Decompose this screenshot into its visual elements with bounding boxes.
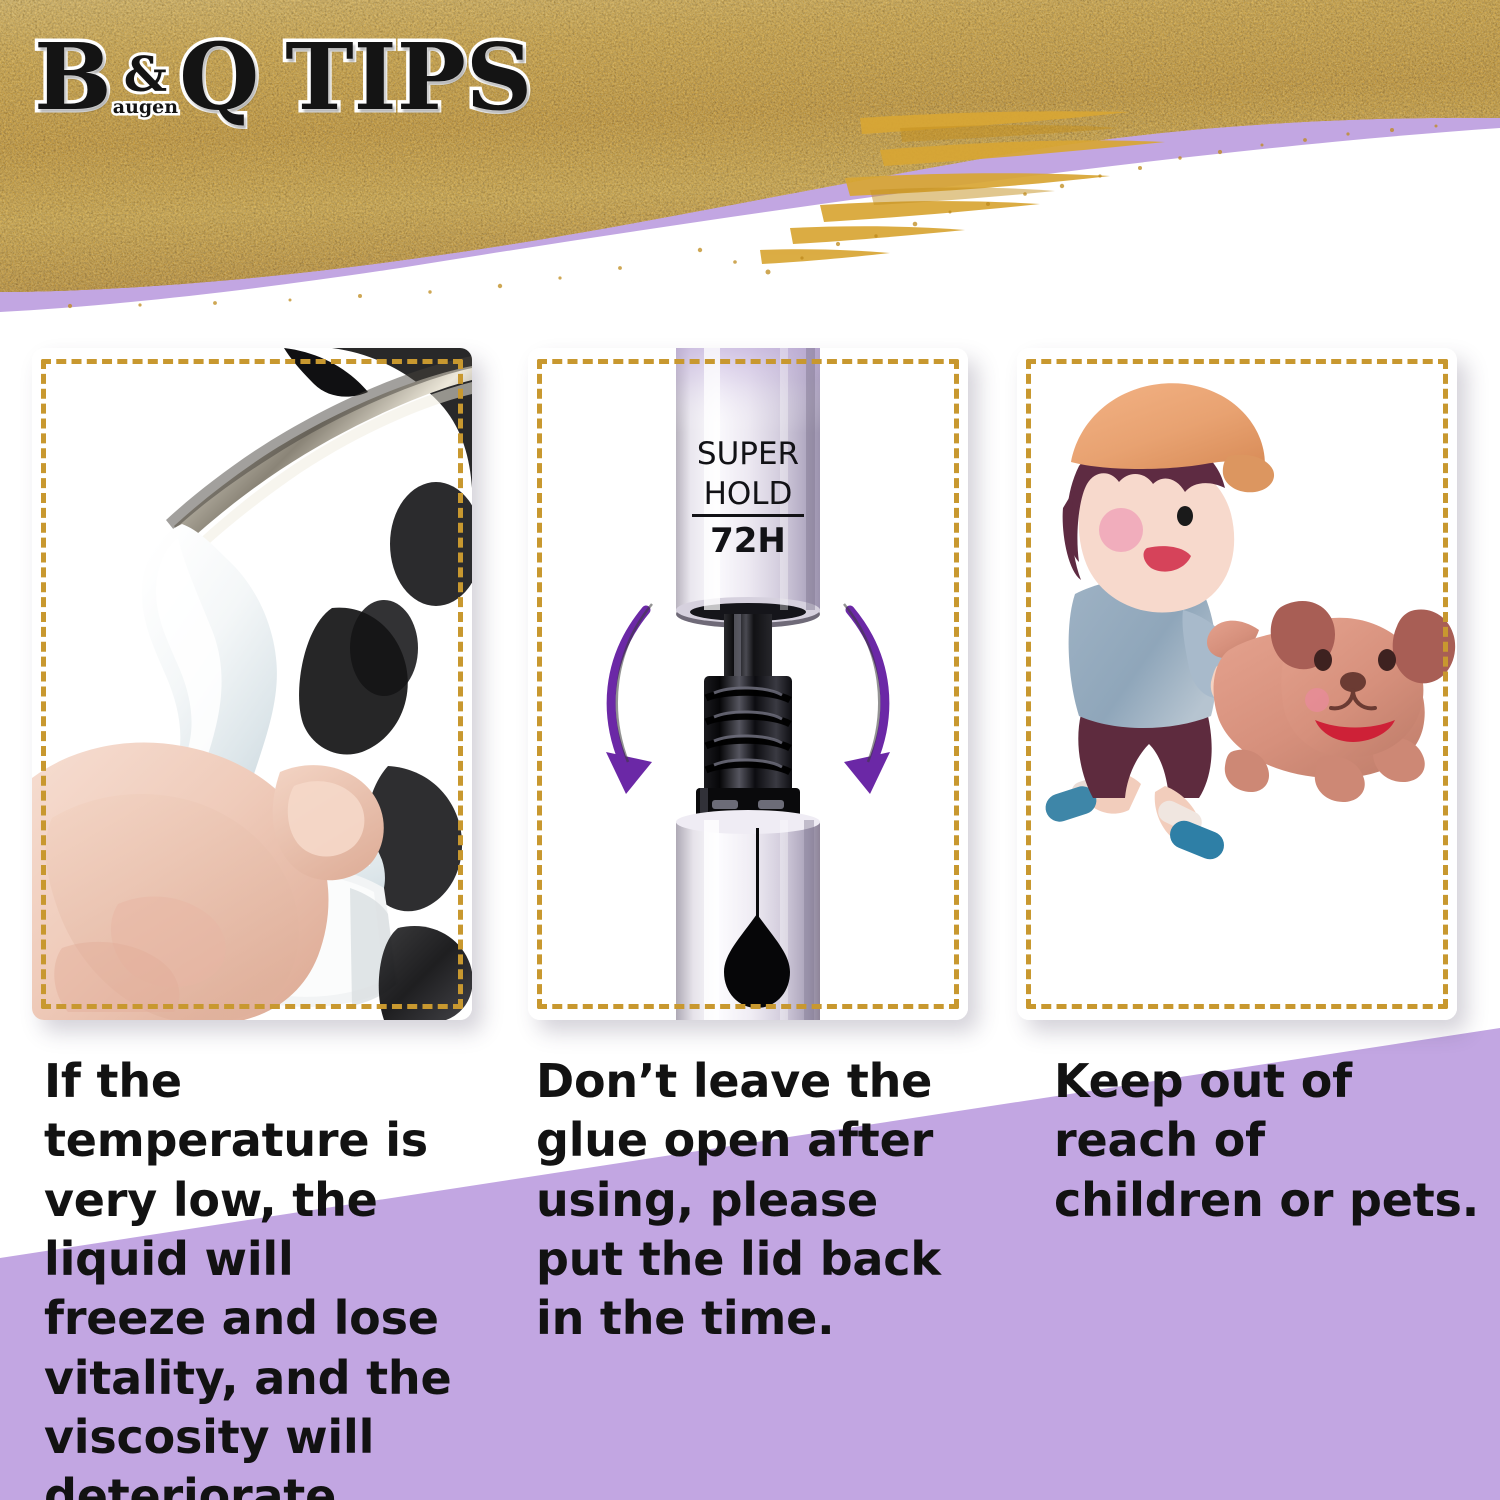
dog-left-eye: [1314, 649, 1332, 671]
label-hold: HOLD: [704, 476, 793, 512]
glue-bottle-diagram: SUPER HOLD 72H: [528, 348, 968, 1020]
logo-augen-wordmark: augen: [113, 98, 178, 117]
threaded-neck: [696, 676, 800, 828]
panel-keep-away: [1017, 348, 1457, 1020]
caption-close-lid: Don’t leave the glue open after using, p…: [536, 1052, 956, 1349]
label-super: SUPER: [697, 436, 799, 472]
logo-letter-b: B: [34, 31, 112, 123]
caption-keep-away: Keep out of reach of children or pets.: [1054, 1052, 1484, 1230]
header-banner: B & augen Q TIPS: [0, 0, 1500, 330]
infographic-page: B & augen Q TIPS: [0, 0, 1500, 1500]
caption-row: If the temperature is very low, the liqu…: [0, 1052, 1500, 1452]
label-divider-rule: [692, 514, 804, 517]
panel-row: SUPER HOLD 72H: [0, 348, 1500, 1038]
panel-close-lid-artwork: SUPER HOLD 72H: [528, 348, 968, 1020]
dog-cheek: [1305, 688, 1329, 712]
dog-right-eye: [1378, 649, 1396, 671]
cap-stem: [724, 614, 772, 682]
panel-temperature: [32, 348, 472, 1020]
boy-eye: [1177, 506, 1193, 526]
brand-logo: B & augen Q TIPS: [34, 31, 532, 123]
caption-temperature: If the temperature is very low, the liqu…: [44, 1052, 464, 1500]
logo-ampersand: &: [124, 55, 167, 96]
logo-ampersand-stack: & augen: [113, 31, 178, 117]
logo-letter-q: Q: [179, 31, 259, 123]
panel-temperature-artwork: [32, 348, 472, 1020]
panel-keep-away-artwork: [1017, 348, 1457, 1020]
label-72h: 72H: [710, 521, 786, 561]
boy-cheek: [1099, 508, 1143, 552]
logo-tips-word: TIPS: [285, 31, 532, 123]
panel-close-lid: SUPER HOLD 72H: [528, 348, 968, 1020]
dog-figure: [1207, 601, 1455, 802]
photo-glue-stretch-illustration: [32, 348, 472, 1020]
boy-and-dog-illustration: [1017, 348, 1457, 1020]
